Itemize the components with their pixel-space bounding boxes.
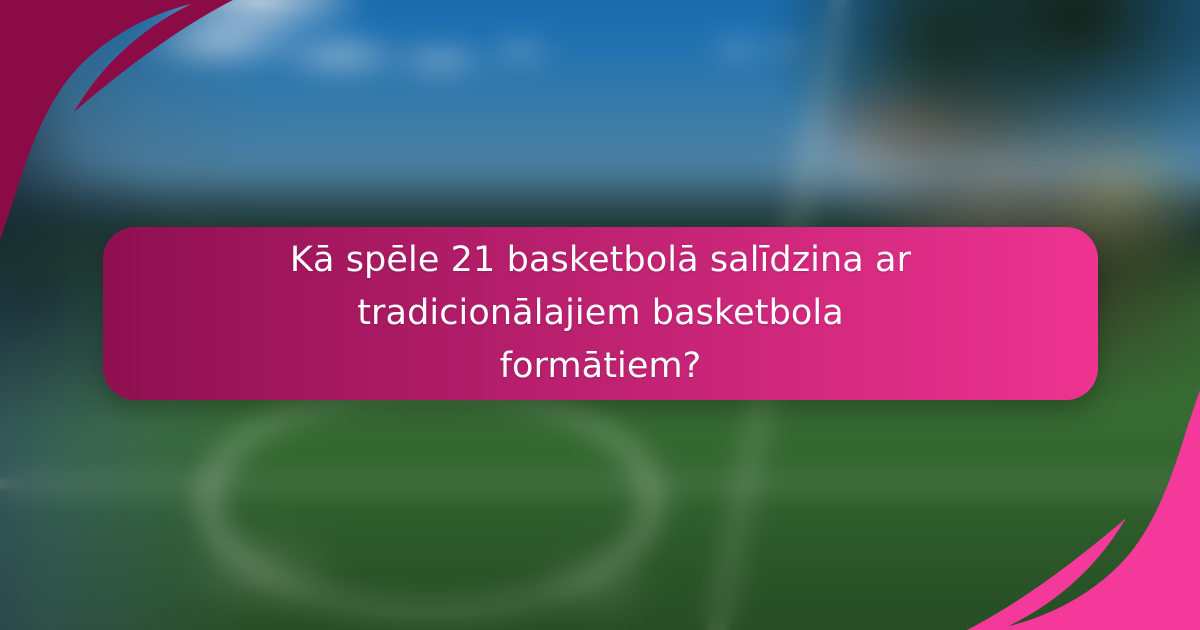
question-card: Kā spēle 21 basketbolā salīdzina ar trad…	[103, 227, 1098, 400]
social-card-canvas: Kā spēle 21 basketbolā salīdzina ar trad…	[0, 0, 1200, 630]
question-title: Kā spēle 21 basketbolā salīdzina ar trad…	[271, 234, 931, 394]
